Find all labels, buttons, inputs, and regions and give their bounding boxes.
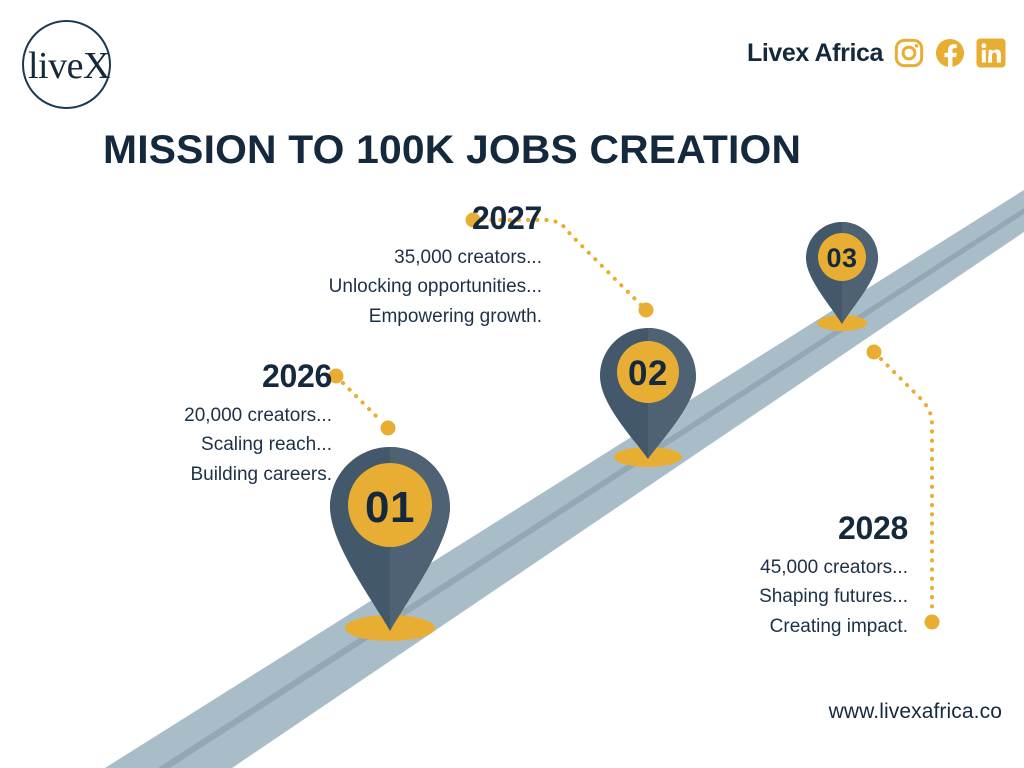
- milestone-lines: 45,000 creators... Shaping futures... Cr…: [640, 553, 908, 641]
- milestone-line: Shaping futures...: [640, 582, 908, 611]
- pin-number: 02: [600, 354, 696, 394]
- map-pin-02[interactable]: 02: [600, 328, 696, 468]
- milestone-line: Scaling reach...: [60, 430, 332, 459]
- connector-2028-end-dot: [925, 615, 940, 630]
- connector-2028-start-dot: [867, 345, 882, 360]
- page-title: MISSION TO 100K JOBS CREATION: [103, 128, 801, 173]
- milestone-year: 2026: [60, 358, 332, 395]
- map-pin-03[interactable]: 03: [806, 222, 878, 332]
- milestone-line: 35,000 creators...: [200, 243, 542, 272]
- pin-number: 01: [330, 483, 450, 533]
- connector-2026-end-dot: [381, 421, 396, 436]
- connector-2027-end-dot: [639, 303, 654, 318]
- map-pin-01[interactable]: 01: [330, 447, 450, 642]
- logo-wordmark: liveX: [28, 47, 128, 85]
- header-brand-group: Livex Africa: [747, 38, 1006, 68]
- pin-number: 03: [806, 243, 878, 274]
- milestone-year: 2028: [640, 510, 908, 547]
- linkedin-icon[interactable]: [976, 38, 1006, 68]
- milestone-lines: 20,000 creators... Scaling reach... Buil…: [60, 401, 332, 489]
- milestone-line: Building careers.: [60, 460, 332, 489]
- milestone-line: 45,000 creators...: [640, 553, 908, 582]
- milestone-line: Creating impact.: [640, 612, 908, 641]
- instagram-icon[interactable]: [894, 38, 924, 68]
- footer-website-url[interactable]: www.livexafrica.co: [829, 700, 1002, 724]
- milestone-2027: 2027 35,000 creators... Unlocking opport…: [200, 200, 542, 331]
- milestone-2026: 2026 20,000 creators... Scaling reach...…: [60, 358, 332, 489]
- infographic-canvas: liveX Livex Africa MISSION TO 100K JOBS …: [0, 0, 1024, 768]
- brand-logo[interactable]: liveX: [22, 20, 117, 115]
- connector-2026: [343, 383, 381, 421]
- milestone-line: Unlocking opportunities...: [200, 272, 542, 301]
- milestone-2028: 2028 45,000 creators... Shaping futures.…: [640, 510, 908, 641]
- milestone-line: Empowering growth.: [200, 302, 542, 331]
- facebook-icon[interactable]: [935, 38, 965, 68]
- milestone-lines: 35,000 creators... Unlocking opportuniti…: [200, 243, 542, 331]
- milestone-line: 20,000 creators...: [60, 401, 332, 430]
- brand-name: Livex Africa: [747, 39, 883, 68]
- milestone-year: 2027: [200, 200, 542, 237]
